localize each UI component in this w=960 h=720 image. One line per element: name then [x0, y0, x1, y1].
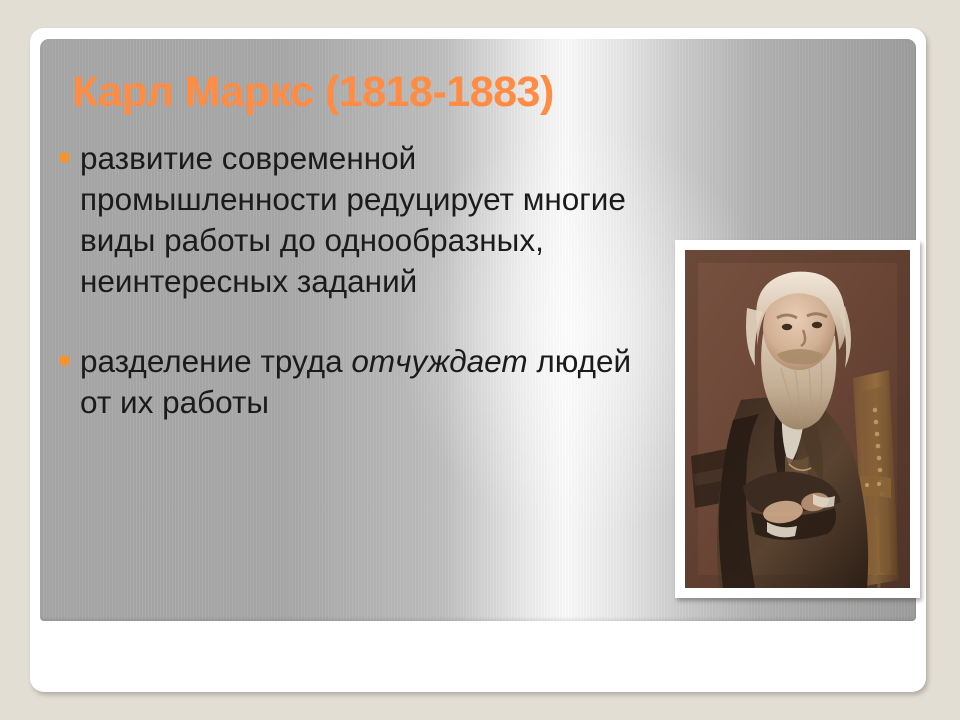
card-footer-strip	[40, 621, 916, 681]
bullet-text-1: развитие современной промышленности реду…	[80, 140, 626, 299]
karl-marx-portrait-image	[685, 250, 910, 588]
bullet-2-text-before: разделение труда	[80, 343, 351, 379]
slide-card: Карл Маркс (1818-1883) развитие современ…	[30, 28, 926, 692]
slide-title: Карл Маркс (1818-1883)	[72, 68, 554, 117]
bullet-text-2: разделение труда отчуждает людей от их р…	[80, 343, 631, 420]
bullet-dot-icon	[59, 355, 70, 366]
bullet-list: развитие современной промышленности реду…	[42, 138, 662, 423]
bullet-dot-icon	[59, 152, 70, 163]
bullet-item-2: разделение труда отчуждает людей от их р…	[42, 341, 662, 423]
bullet-1-text-before: развитие современной промышленности реду…	[80, 140, 626, 299]
karl-marx-photo-frame	[675, 240, 920, 598]
bullet-item-1: развитие современной промышленности реду…	[42, 138, 662, 302]
bullet-2-emphasis: отчуждает	[351, 343, 527, 379]
